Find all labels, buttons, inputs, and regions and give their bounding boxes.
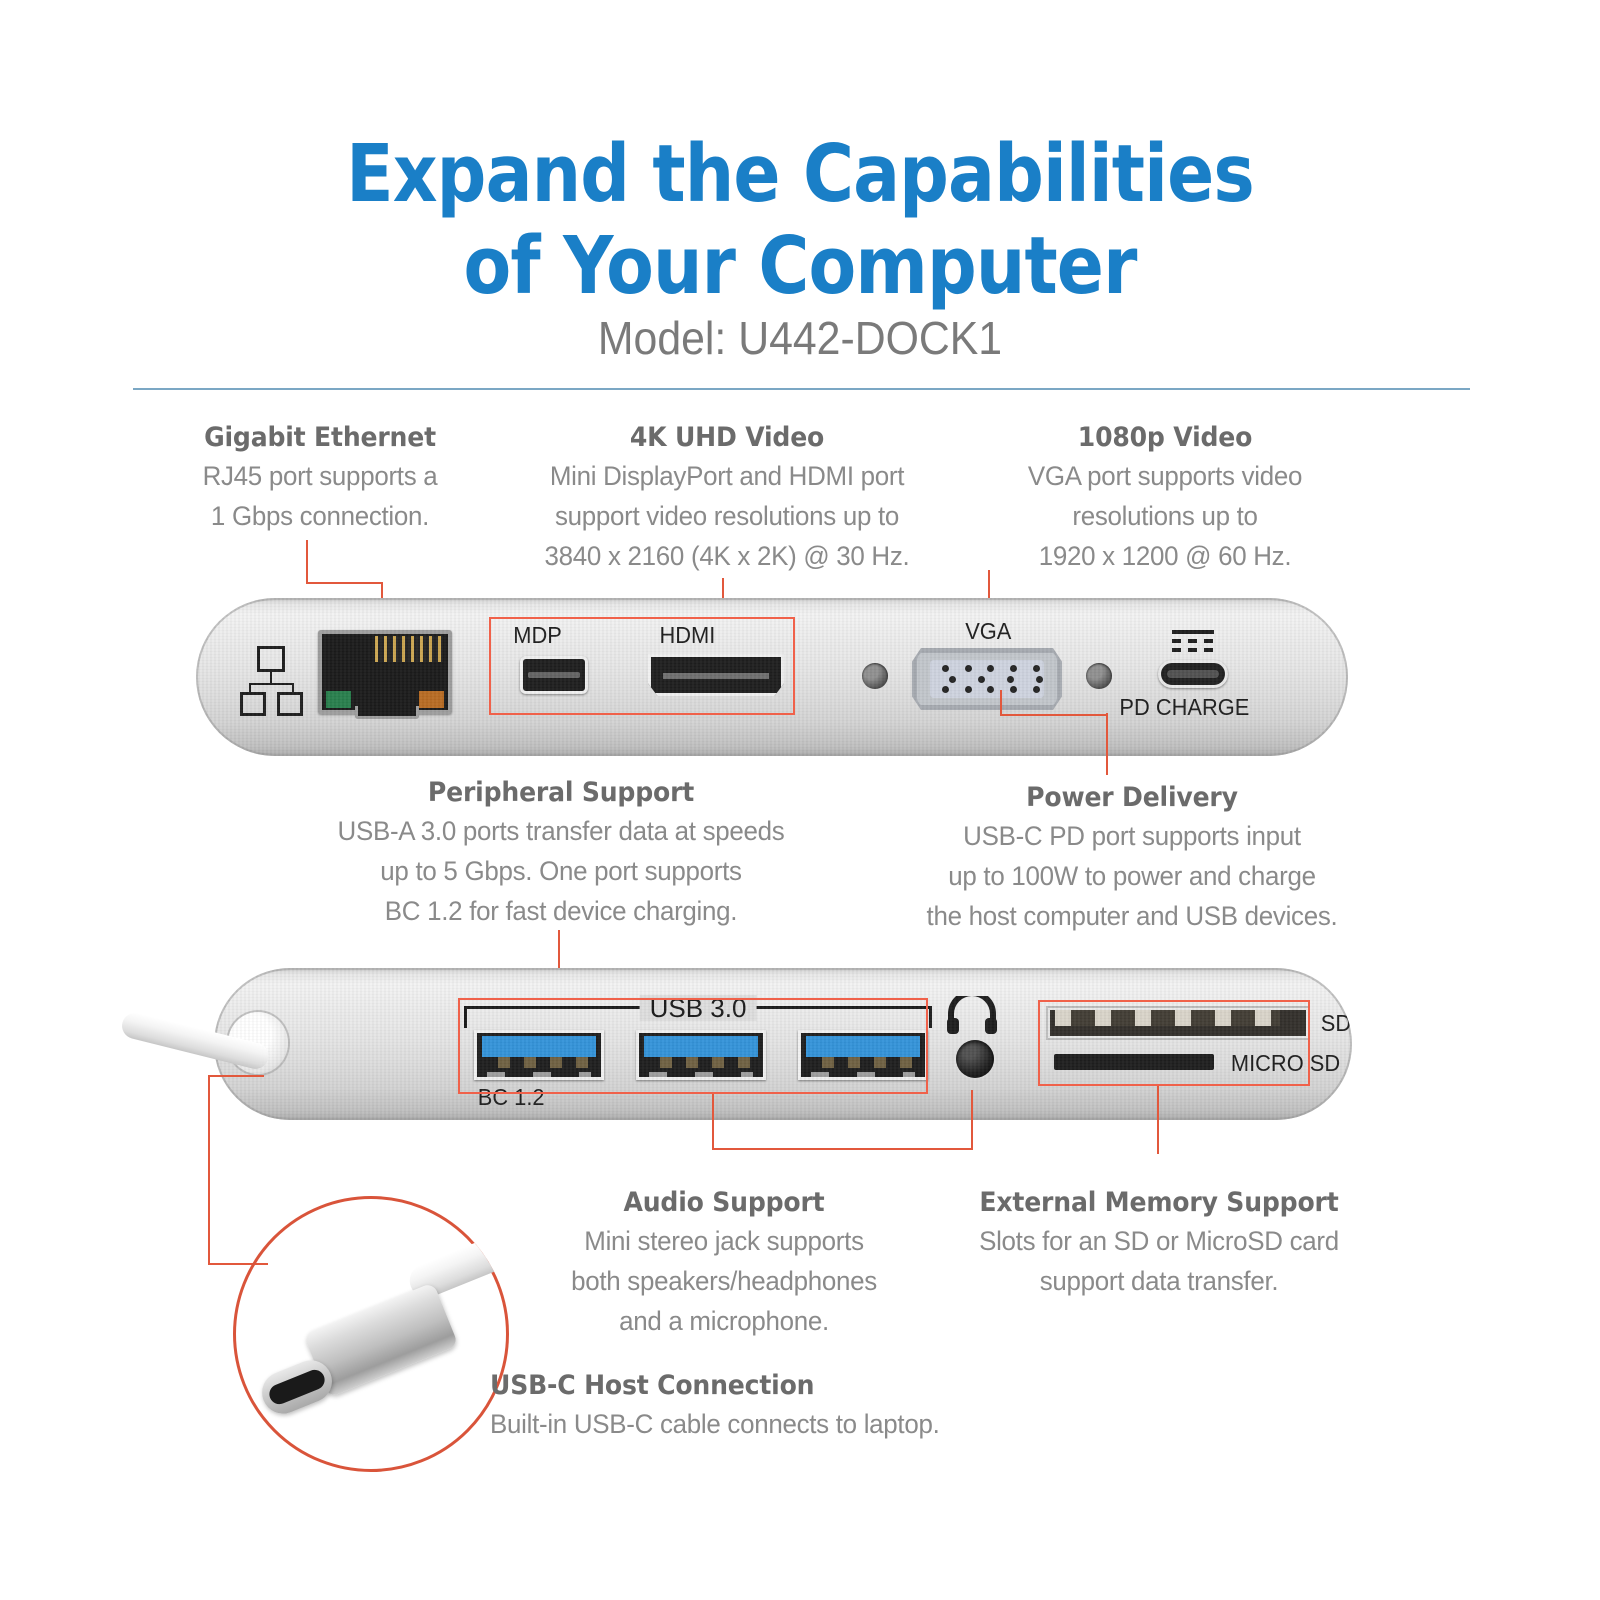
callout-body: Built-in USB-C cable connects to laptop. bbox=[490, 1404, 1047, 1444]
leader-line-pd-horizontal bbox=[1000, 714, 1108, 716]
callout-1080p-video: 1080p Video VGA port supports video reso… bbox=[985, 420, 1345, 576]
vga-screw-hole-left bbox=[862, 663, 888, 689]
header-divider bbox=[133, 388, 1470, 390]
leader-line-ethernet-horizontal bbox=[306, 582, 382, 584]
callout-body: Slots for an SD or MicroSD card support … bbox=[937, 1221, 1381, 1301]
leader-line-audio-vertical bbox=[971, 1090, 973, 1150]
model-subtitle: Model: U442-DOCK1 bbox=[56, 310, 1544, 366]
headphone-icon bbox=[946, 996, 998, 1034]
callout-heading: Audio Support bbox=[544, 1185, 905, 1221]
callout-gigabit-ethernet: Gigabit Ethernet RJ45 port supports a 1 … bbox=[140, 420, 500, 536]
callout-heading: 4K UHD Video bbox=[499, 420, 955, 456]
page-title-line1: Expand the Capabilities bbox=[96, 128, 1504, 220]
vga-port bbox=[912, 648, 1062, 710]
callout-4k-uhd-video: 4K UHD Video Mini DisplayPort and HDMI p… bbox=[482, 420, 972, 576]
callout-body: USB-C PD port supports input up to 100W … bbox=[873, 816, 1391, 936]
callout-body: USB-A 3.0 ports transfer data at speeds … bbox=[284, 811, 839, 931]
callout-heading: Power Delivery bbox=[881, 780, 1383, 816]
leader-line-audio-drop bbox=[712, 1094, 714, 1150]
leader-line-audio-horizontal bbox=[712, 1148, 972, 1150]
leader-line-pd-port-stub bbox=[1000, 690, 1002, 716]
callout-power-delivery: Power Delivery USB-C PD port supports in… bbox=[862, 780, 1402, 936]
leader-line-usbc-vertical bbox=[208, 1075, 210, 1265]
callout-audio-support: Audio Support Mini stereo jack supports … bbox=[530, 1185, 918, 1341]
callout-peripheral-support: Peripheral Support USB-A 3.0 ports trans… bbox=[272, 775, 850, 931]
page-title: Expand the Capabilities of Your Computer bbox=[96, 128, 1504, 312]
callout-heading: USB-C Host Connection bbox=[490, 1368, 1029, 1404]
leader-line-pd-vertical bbox=[1106, 713, 1108, 775]
highlight-box-video-ports bbox=[489, 617, 795, 715]
callout-body: VGA port supports video resolutions up t… bbox=[992, 456, 1338, 576]
audio-jack-port bbox=[956, 1040, 994, 1078]
callout-body: Mini stereo jack supports both speakers/… bbox=[538, 1221, 910, 1341]
vga-port-label: VGA bbox=[965, 620, 1011, 643]
leader-line-usbc-top bbox=[208, 1075, 264, 1077]
callout-heading: Gigabit Ethernet bbox=[153, 420, 488, 456]
leader-line-ethernet-vertical bbox=[306, 540, 308, 584]
infographic-canvas: Expand the Capabilities of Your Computer… bbox=[0, 0, 1600, 1600]
callout-external-memory-support: External Memory Support Slots for an SD … bbox=[928, 1185, 1390, 1301]
callout-heading: External Memory Support bbox=[944, 1185, 1374, 1221]
rj45-ethernet-port bbox=[318, 630, 452, 714]
callout-body: Mini DisplayPort and HDMI port support v… bbox=[492, 456, 962, 576]
dc-power-symbol-icon bbox=[1172, 630, 1214, 657]
sd-slot-label: SD bbox=[1321, 1012, 1351, 1035]
callout-usb-c-host-connection: USB-C Host Connection Built-in USB-C cab… bbox=[490, 1368, 1070, 1444]
usb-c-pd-charge-port bbox=[1158, 660, 1228, 688]
pd-charge-port-label: PD CHARGE bbox=[1119, 696, 1249, 719]
page-title-line2: of Your Computer bbox=[96, 220, 1504, 312]
callout-heading: Peripheral Support bbox=[292, 775, 830, 811]
callout-heading: 1080p Video bbox=[998, 420, 1333, 456]
callout-body: RJ45 port supports a 1 Gbps connection. bbox=[147, 456, 493, 536]
highlight-box-card-slots bbox=[1038, 1000, 1310, 1086]
vga-screw-hole-right bbox=[1086, 663, 1112, 689]
usb-c-connector-illustration bbox=[233, 1196, 509, 1472]
leader-line-memory-vertical bbox=[1157, 1086, 1159, 1154]
ethernet-network-icon bbox=[240, 646, 302, 710]
highlight-box-usb3-ports bbox=[458, 998, 928, 1094]
